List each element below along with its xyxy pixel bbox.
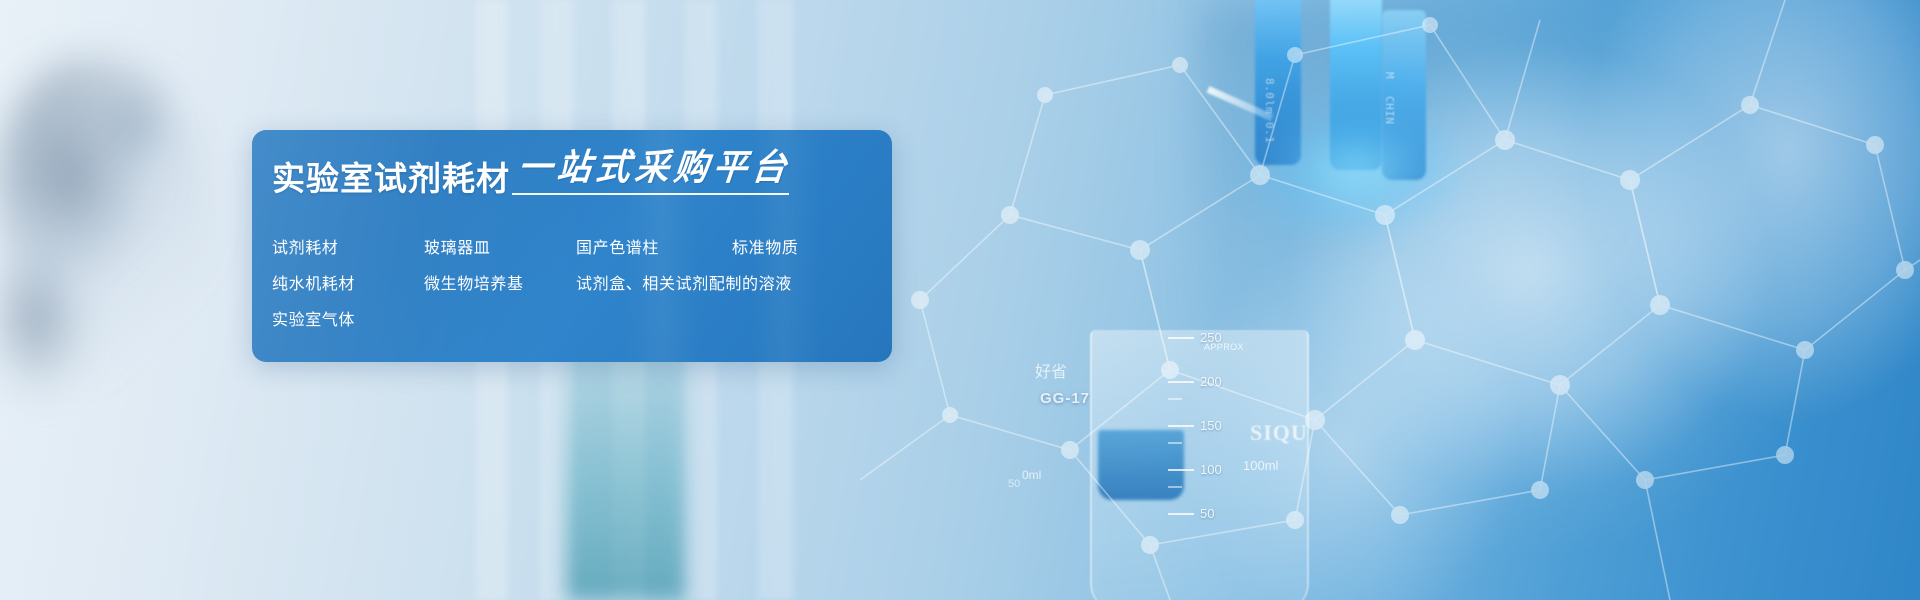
category-link-kits-and-solutions[interactable]: 试剂盒、相关试剂配制的溶液 bbox=[576, 267, 792, 303]
category-link-water-purifier-consumables[interactable]: 纯水机耗材 bbox=[272, 267, 424, 303]
promo-card: 实验室试剂耗材 一站式采购平台 试剂耗材 玻璃器皿 国产色谱柱 标准物质 纯水机… bbox=[252, 130, 892, 362]
vial-label-1: lm bbox=[1263, 100, 1276, 114]
graduation-label-150: 150 bbox=[1200, 418, 1222, 433]
beaker-logo-text: 好省 bbox=[1035, 358, 1067, 382]
graduation-label-50: 50 bbox=[1200, 506, 1214, 521]
graduation-label-100: 100 bbox=[1200, 462, 1222, 477]
graduation-tick bbox=[1168, 381, 1194, 383]
vial-label-2: 0.1 bbox=[1263, 122, 1276, 143]
beaker-graduation-scale: 250 APPROX 200 150 100 50 bbox=[1168, 322, 1288, 572]
background-vial-glow bbox=[1240, 100, 1470, 240]
vial-label-0: 8.0 bbox=[1263, 78, 1276, 99]
cylinder-small-label: 50 bbox=[1008, 478, 1020, 490]
category-link-lab-gases[interactable]: 实验室气体 bbox=[272, 303, 424, 339]
headline-script-text: 一站式采购平台 bbox=[516, 151, 793, 187]
category-list: 试剂耗材 玻璃器皿 国产色谱柱 标准物质 纯水机耗材 微生物培养基 试剂盒、相关… bbox=[272, 231, 872, 339]
cylinder-brand: SIQU bbox=[1250, 420, 1308, 446]
graduation-tick bbox=[1168, 469, 1194, 471]
graduation-label-200: 200 bbox=[1200, 374, 1222, 389]
category-link-reference-materials[interactable]: 标准物质 bbox=[732, 231, 872, 267]
category-link-glassware[interactable]: 玻璃器皿 bbox=[424, 231, 576, 267]
beaker-brand-code: GG-17 bbox=[1040, 390, 1090, 407]
lab-supplies-banner: 8.0 lm 0.1 M CHIN 好省 GG-17 250 APPROX 20… bbox=[0, 0, 1920, 600]
headline-script-wrap: 一站式采购平台 bbox=[518, 152, 791, 195]
category-row-3: 实验室气体 bbox=[272, 303, 872, 339]
graduation-tick-minor bbox=[1168, 486, 1182, 488]
graduation-tick-minor bbox=[1168, 442, 1182, 444]
headline-underline bbox=[512, 193, 789, 195]
graduation-tick bbox=[1168, 337, 1194, 339]
graduation-tick bbox=[1168, 513, 1194, 515]
vial-label-4: CHIN bbox=[1383, 96, 1396, 125]
headline: 实验室试剂耗材 一站式采购平台 bbox=[272, 152, 791, 195]
cylinder-volume: 100ml bbox=[1243, 458, 1278, 473]
category-link-reagent-consumables[interactable]: 试剂耗材 bbox=[272, 231, 424, 267]
background-teal-tube bbox=[565, 330, 685, 600]
graduation-tick-minor bbox=[1168, 398, 1182, 400]
beaker-approx-label: APPROX bbox=[1204, 342, 1244, 352]
category-row-1: 试剂耗材 玻璃器皿 国产色谱柱 标准物质 bbox=[272, 231, 872, 267]
category-link-domestic-columns[interactable]: 国产色谱柱 bbox=[576, 231, 732, 267]
headline-main-text: 实验室试剂耗材 bbox=[272, 162, 510, 195]
vial-label-3: M bbox=[1383, 72, 1396, 79]
category-row-2: 纯水机耗材 微生物培养基 试剂盒、相关试剂配制的溶液 bbox=[272, 267, 872, 303]
cylinder-ml-label: 0ml bbox=[1022, 468, 1041, 482]
graduation-tick bbox=[1168, 425, 1194, 427]
category-link-microbial-media[interactable]: 微生物培养基 bbox=[424, 267, 576, 303]
